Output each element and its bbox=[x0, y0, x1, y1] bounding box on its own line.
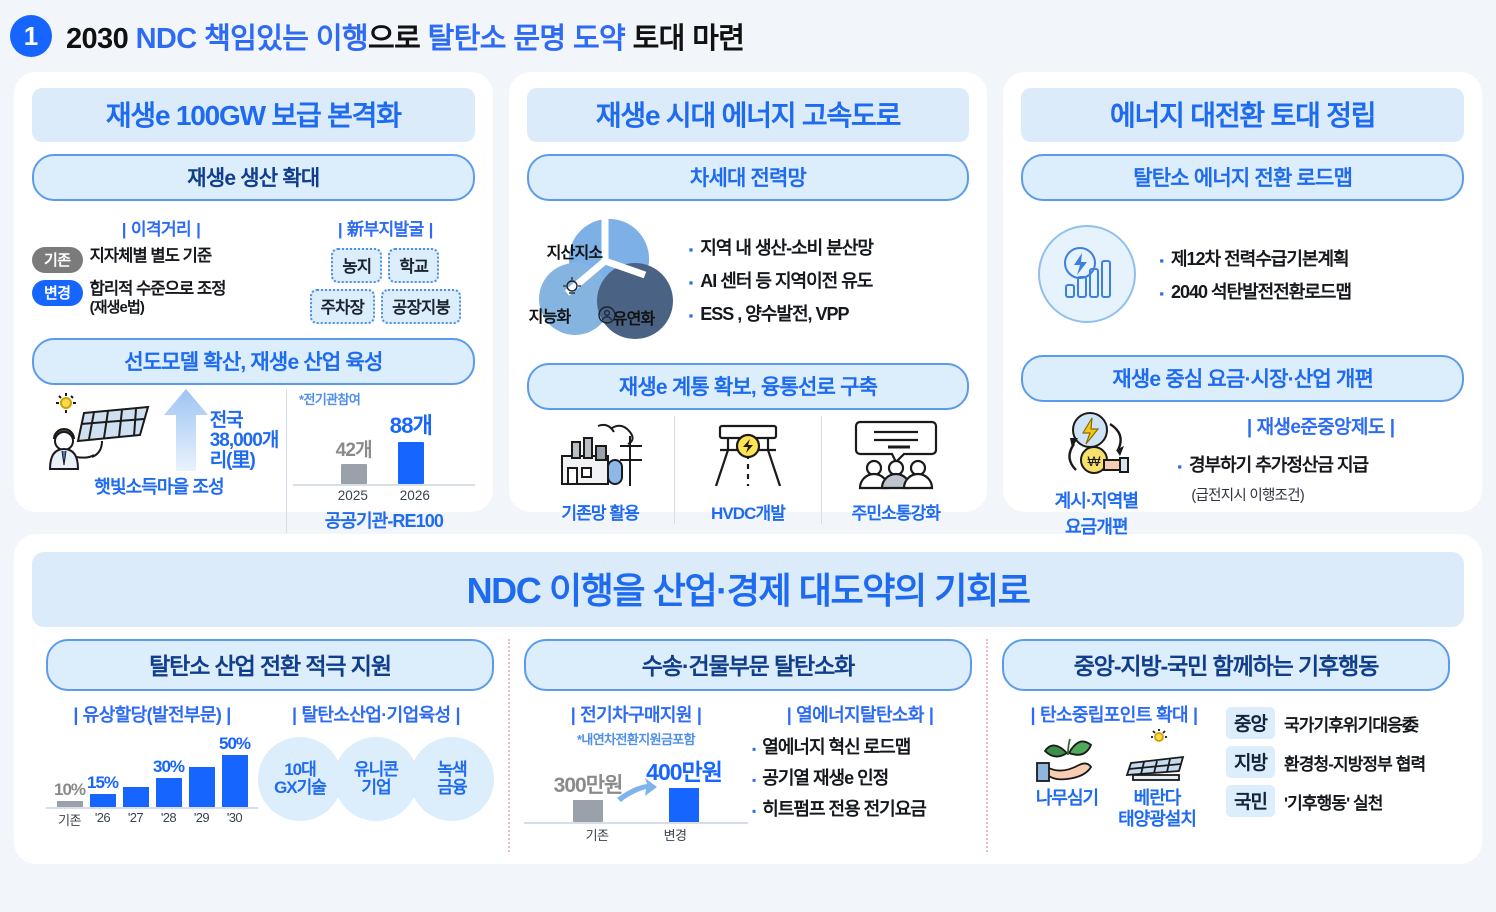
bottom-col-heading: 중앙-지방-국민 함께하는 기후행동 bbox=[1002, 639, 1450, 691]
heat-energy-bullets: ▪열에너지 혁신 로드맵 ▪공기열 재생e 인정 ▪히트펌프 전용 전기요금 bbox=[748, 733, 972, 821]
card3-bullets: ▪제12차 전력수급기본계획 ▪2040 석탄발전전환로드맵 bbox=[1159, 238, 1464, 311]
bullet-marker: ▪ bbox=[1177, 460, 1182, 473]
circle-line: 유니콘 bbox=[354, 761, 398, 779]
callout-line: 전국 bbox=[210, 411, 279, 431]
label-text: 열에너지탈탄소화 bbox=[796, 705, 924, 725]
x-tick: '30 bbox=[220, 810, 249, 829]
village-callout: 전국 38,000개 리(里) bbox=[210, 411, 279, 471]
card2-section1-body: 지산지소 지능화 유연화 bbox=[527, 215, 970, 345]
hand-sprout-icon bbox=[1031, 729, 1103, 783]
callout-line: 리(里) bbox=[210, 451, 279, 471]
paid-allocation-chart: 10% 15% . 3 bbox=[46, 733, 258, 807]
label-text: 전기차구매지원 bbox=[580, 705, 692, 725]
separation-distance-group: |이격거리| 기존 지자체별 별도 기준 변경 합리적 수준으로 조정 (재생e… bbox=[32, 215, 290, 324]
bottom-col-climate-action: 중앙-지방-국민 함께하는 기후행동 |탄소중립포인트 확대| bbox=[986, 639, 1464, 852]
industry-circles: 10대 GX기술 유니콘 기업 녹색 금융 bbox=[258, 737, 494, 821]
policy-text-sub: (재생e법) bbox=[90, 299, 144, 316]
venn-label-right: 유연화 bbox=[613, 305, 655, 329]
chart-bar-group: 15% bbox=[88, 733, 117, 807]
card1-section2-body: 전국 38,000개 리(里) 햇빛소득마을 조성 *전기관참여 42개 bbox=[32, 389, 475, 533]
up-arrow-icon bbox=[162, 387, 210, 471]
policy-text-changed: 합리적 수준으로 조정 (재생e법) bbox=[90, 280, 226, 317]
ev-subsidy-chart: 300만원 400만원 bbox=[524, 750, 748, 822]
new-site-label: |新부지발굴| bbox=[296, 215, 475, 240]
bullet-item: ▪지역 내 생산-소비 분산망 bbox=[689, 234, 970, 260]
chart-bar-group: 42개 bbox=[336, 408, 372, 484]
bar-26 bbox=[90, 794, 116, 807]
bullet-text: AI 센터 등 지역이전 유도 bbox=[700, 267, 872, 293]
badge-existing: 기존 bbox=[32, 247, 83, 273]
roadmap-icon-wrap bbox=[1021, 219, 1153, 329]
infographic-page: 1 2030 NDC 책임있는 이행으로 탈탄소 문명 도약 토대 마련 재생e… bbox=[0, 0, 1496, 912]
circle-line: GX기술 bbox=[274, 779, 326, 797]
title-segment: NDC 책임있는 이행 bbox=[136, 23, 368, 55]
chart-bar-group: 88개 bbox=[390, 408, 432, 484]
x-tick: 기존 bbox=[575, 825, 619, 844]
decarbon-industry-label: |탈탄소산업·기업육성| bbox=[258, 701, 494, 727]
governance-key: 지방 bbox=[1226, 746, 1275, 778]
venn-diagram: 지산지소 지능화 유연화 bbox=[527, 215, 685, 345]
bottom-col-transport: 수송·건물부문 탈탄소화 |전기차구매지원| *내연차전환지원금포함 300만원 bbox=[508, 639, 986, 852]
card3-section1-heading: 탈탄소 에너지 전환 로드맵 bbox=[1021, 154, 1464, 201]
action-label: 태양광설치 bbox=[1117, 810, 1197, 830]
policy-text-existing: 지자체별 별도 기준 bbox=[90, 247, 212, 265]
bottom-col-heading: 수송·건물부문 탈탄소화 bbox=[524, 639, 972, 691]
policy-text-main: 합리적 수준으로 조정 bbox=[90, 280, 226, 298]
bullet-item: ▪제12차 전력수급기본계획 bbox=[1159, 245, 1464, 271]
new-site-tags: 농지 학교 주차장 공장지붕 bbox=[296, 248, 475, 324]
bullet-marker: ▪ bbox=[1159, 254, 1164, 267]
x-tick: '28 bbox=[154, 810, 183, 829]
bar-value-label: 10% bbox=[54, 780, 85, 800]
circle-line: 금융 bbox=[437, 779, 466, 797]
heat-energy-group: |열에너지탈탄소화| ▪열에너지 혁신 로드맵 ▪공기열 재생e 인정 ▪히트펌… bbox=[748, 701, 972, 844]
governance-rows: 중앙 국가기후위기대응委 지방 환경청-지방정부 협력 국민 '기후행동' 실천 bbox=[1226, 707, 1450, 817]
bullet-item: ▪경부하기 추가정산금 지급 bbox=[1177, 451, 1464, 477]
tariff-exchange-icon: ₩ bbox=[1048, 408, 1144, 482]
bottom-panel: NDC 이행을 산업·경제 대도약의 기회로 탈탄소 산업 전환 적극 지원 |… bbox=[14, 534, 1482, 864]
bullet-marker: ▪ bbox=[752, 805, 756, 817]
bullet-item: ▪열에너지 혁신 로드맵 bbox=[752, 733, 972, 759]
tariff-caption-line: 계시·지역별 bbox=[1021, 487, 1171, 513]
governance-value: 국가기후위기대응委 bbox=[1284, 711, 1418, 736]
ev-subsidy-group: |전기차구매지원| *내연차전환지원금포함 300만원 bbox=[524, 701, 748, 844]
bar-2026 bbox=[398, 442, 424, 484]
top-cards-row: 재생e 100GW 보급 본격화 재생e 생산 확대 |이격거리| 기존 지자체… bbox=[0, 64, 1496, 512]
bullet-text: 히트펌프 전용 전기요금 bbox=[762, 795, 926, 821]
ev-subsidy-note: *내연차전환지원금포함 bbox=[524, 729, 748, 748]
venn-label-left: 지능화 bbox=[529, 303, 571, 327]
chart-bar-group: 10% bbox=[55, 733, 84, 807]
card-energy-highway: 재생e 시대 에너지 고속도로 차세대 전력망 지산지소 bbox=[509, 72, 988, 512]
bullet-text: 열에너지 혁신 로드맵 bbox=[762, 733, 910, 759]
action-tree-planting: 나무심기 bbox=[1031, 729, 1103, 830]
governance-row: 지방 환경청-지방정부 협력 bbox=[1226, 746, 1450, 778]
re100-note: *전기관참여 bbox=[293, 389, 475, 408]
bullet-text: ESS , 양수발전, VPP bbox=[700, 300, 848, 326]
chart-bar-group: 400만원 bbox=[657, 750, 711, 822]
bar-value-label: 42개 bbox=[336, 435, 372, 462]
x-tick: 기존 bbox=[55, 810, 84, 829]
badge-changed: 변경 bbox=[32, 280, 83, 306]
bullet-marker: ▪ bbox=[689, 276, 694, 289]
x-tick: '26 bbox=[88, 810, 117, 829]
carbon-point-icons: 나무심기 bbox=[1002, 729, 1226, 830]
card-title: 에너지 대전환 토대 정립 bbox=[1021, 88, 1464, 142]
governance-key: 중앙 bbox=[1226, 707, 1275, 739]
grid-item-label: 주민소통강화 bbox=[822, 499, 969, 524]
label-text: 재생e준중앙제도 bbox=[1257, 417, 1385, 438]
governance-value: '기후행동' 실천 bbox=[1284, 789, 1383, 814]
card3-section2-body: ₩ 계시·지역별 요금개편 |재생e준중앙제도| bbox=[1021, 408, 1464, 539]
industry-circle[interactable]: 유니콘 기업 bbox=[334, 737, 418, 821]
energy-chart-circle-icon bbox=[1032, 219, 1142, 329]
heat-energy-label: |열에너지탈탄소화| bbox=[748, 701, 972, 727]
balcony-solar-icon bbox=[1117, 729, 1197, 783]
bullet-text: 제12차 전력수급기본계획 bbox=[1171, 245, 1349, 271]
bullet-item: ▪공기열 재생e 인정 bbox=[752, 764, 972, 790]
action-label: 베란다 bbox=[1117, 789, 1197, 809]
bullet-marker: ▪ bbox=[689, 309, 694, 322]
section-number-badge: 1 bbox=[10, 15, 52, 57]
bar-2025 bbox=[341, 464, 367, 484]
bar-value-label: 400만원 bbox=[646, 753, 722, 787]
label-text: 탄소중립포인트 확대 bbox=[1040, 705, 1188, 725]
solar-panel-person-icon bbox=[40, 391, 160, 471]
re100-group: *전기관참여 42개 88개 2025 2026 bbox=[286, 389, 475, 533]
bottom-columns: 탈탄소 산업 전환 적극 지원 |유상할당(발전부문)| 10% bbox=[32, 639, 1464, 852]
bullet-text: 지역 내 생산-소비 분산망 bbox=[700, 234, 873, 260]
label-text: 유상할당(발전부문) bbox=[83, 705, 221, 725]
governance-row: 국민 '기후행동' 실천 bbox=[1226, 785, 1450, 817]
decarbon-industry-group: |탈탄소산업·기업육성| 10대 GX기술 유니콘 기업 bbox=[258, 701, 494, 829]
card2-section1-heading: 차세대 전력망 bbox=[527, 154, 970, 201]
card1-section2-heading: 선도모델 확산, 재생e 산업 육성 bbox=[32, 338, 475, 385]
card-title: 재생e 100GW 보급 본격화 bbox=[32, 88, 475, 142]
bullet-item: ▪AI 센터 등 지역이전 유도 bbox=[689, 267, 970, 293]
bottom-col3-body: |탄소중립포인트 확대| bbox=[1002, 701, 1450, 830]
bar-value-label: 50% bbox=[219, 734, 250, 754]
carbon-point-group: |탄소중립포인트 확대| bbox=[1002, 701, 1226, 830]
page-header: 1 2030 NDC 책임있는 이행으로 탈탄소 문명 도약 토대 마련 bbox=[0, 0, 1496, 64]
policy-row-existing: 기존 지자체별 별도 기준 bbox=[32, 247, 290, 273]
bottom-col1-body: |유상할당(발전부문)| 10% 15% bbox=[46, 701, 494, 829]
community-speech-icon bbox=[848, 416, 944, 492]
re100-chart: 42개 88개 bbox=[293, 408, 475, 484]
circle-line: 10대 bbox=[284, 761, 316, 779]
x-tick: 2026 bbox=[393, 488, 437, 503]
governance-value: 환경청-지방정부 협력 bbox=[1284, 750, 1425, 775]
card2-bullets: ▪지역 내 생산-소비 분산망 ▪AI 센터 등 지역이전 유도 ▪ESS , … bbox=[689, 227, 970, 333]
svg-text:₩: ₩ bbox=[1088, 453, 1102, 469]
separation-distance-label: |이격거리| bbox=[32, 215, 290, 240]
chart-bar-group: . bbox=[187, 733, 216, 807]
x-tick: '27 bbox=[121, 810, 150, 829]
card3-section1-body: ▪제12차 전력수급기본계획 ▪2040 석탄발전전환로드맵 bbox=[1021, 219, 1464, 329]
bar-28 bbox=[156, 778, 182, 807]
title-segment: 토대 마련 bbox=[633, 23, 745, 55]
title-segment: 탈탄소 문명 도약 bbox=[428, 23, 633, 55]
grid-item-existing-network: 기존망 활용 bbox=[527, 416, 674, 524]
page-title: 2030 NDC 책임있는 이행으로 탈탄소 문명 도약 토대 마련 bbox=[66, 15, 744, 57]
paid-allocation-group: |유상할당(발전부문)| 10% 15% bbox=[46, 701, 258, 829]
target-icon bbox=[597, 305, 617, 325]
callout-line: 38,000개 bbox=[210, 431, 279, 451]
governance-group: 중앙 국가기후위기대응委 지방 환경청-지방정부 협력 국민 '기후행동' 실천 bbox=[1226, 701, 1450, 830]
bulb-icon bbox=[561, 277, 583, 299]
circle-line: 녹색 bbox=[437, 761, 466, 779]
bar-base bbox=[57, 801, 83, 807]
bar-changed bbox=[669, 788, 699, 822]
bar-27 bbox=[123, 787, 149, 807]
chart-bar-group: 50% bbox=[220, 733, 249, 807]
chart-bar-group: 30% bbox=[154, 733, 183, 807]
x-tick: 변경 bbox=[653, 825, 697, 844]
grid-icons-row: 기존망 활용 bbox=[527, 416, 970, 524]
paid-allocation-label: |유상할당(발전부문)| bbox=[46, 701, 258, 727]
ev-subsidy-axis: 기존 변경 bbox=[524, 822, 748, 844]
action-label: 나무심기 bbox=[1031, 789, 1103, 809]
x-tick: 2025 bbox=[331, 488, 375, 503]
bar-30 bbox=[222, 755, 248, 807]
central-system-note: (급전지시 이행조건) bbox=[1191, 484, 1464, 505]
new-site-group: |新부지발굴| 농지 학교 주차장 공장지붕 bbox=[296, 215, 475, 324]
bar-existing bbox=[573, 800, 603, 822]
bar-value-label: 88개 bbox=[390, 408, 432, 440]
bottom-col2-body: |전기차구매지원| *내연차전환지원금포함 300만원 bbox=[524, 701, 972, 844]
paid-allocation-axis: 기존 '26 '27 '28 '29 '30 bbox=[46, 807, 258, 829]
bar-value-label: 30% bbox=[153, 757, 184, 777]
power-plant-icon bbox=[554, 416, 646, 492]
carbon-point-label: |탄소중립포인트 확대| bbox=[1002, 701, 1226, 727]
card1-section1-heading: 재생e 생산 확대 bbox=[32, 154, 475, 201]
title-segment: 2030 bbox=[66, 23, 136, 55]
bottom-col-industry: 탈탄소 산업 전환 적극 지원 |유상할당(발전부문)| 10% bbox=[32, 639, 508, 852]
bullet-text: 공기열 재생e 인정 bbox=[762, 764, 888, 790]
card3-section2-heading: 재생e 중심 요금·시장·산업 개편 bbox=[1021, 355, 1464, 402]
governance-row: 중앙 국가기후위기대응委 bbox=[1226, 707, 1450, 739]
grid-item-label: HVDC개발 bbox=[675, 499, 822, 524]
label-text: 新부지발굴 bbox=[347, 220, 424, 239]
venn-label-top: 지산지소 bbox=[547, 239, 603, 263]
bullet-marker: ▪ bbox=[752, 743, 756, 755]
ev-subsidy-label: |전기차구매지원| bbox=[524, 701, 748, 727]
bullet-item: ▪2040 석탄발전전환로드맵 bbox=[1159, 278, 1464, 304]
hvdc-tower-icon bbox=[706, 416, 790, 492]
re100-chart-axis: 2025 2026 bbox=[293, 484, 475, 503]
card-energy-transition: 에너지 대전환 토대 정립 탈탄소 에너지 전환 로드맵 ▪제12차 전 bbox=[1003, 72, 1482, 512]
x-tick: '29 bbox=[187, 810, 216, 829]
site-tag[interactable]: 농지 bbox=[331, 248, 382, 283]
card-renewable-100gw: 재생e 100GW 보급 본격화 재생e 생산 확대 |이격거리| 기존 지자체… bbox=[14, 72, 493, 512]
bullet-marker: ▪ bbox=[1159, 287, 1164, 300]
card1-section1-body: |이격거리| 기존 지자체별 별도 기준 변경 합리적 수준으로 조정 (재생e… bbox=[32, 215, 475, 324]
grid-item-label: 기존망 활용 bbox=[527, 499, 674, 524]
site-tag[interactable]: 공장지붕 bbox=[381, 289, 461, 324]
village-caption: 햇빛소득마을 조성 bbox=[32, 473, 286, 499]
industry-circle[interactable]: 녹색 금융 bbox=[410, 737, 494, 821]
bottom-panel-title: NDC 이행을 산업·경제 대도약의 기회로 bbox=[32, 552, 1464, 627]
grid-item-community: 주민소통강화 bbox=[821, 416, 969, 524]
card2-section2-heading: 재생e 계통 확보, 융통선로 구축 bbox=[527, 363, 970, 410]
bullet-text: 2040 석탄발전전환로드맵 bbox=[1171, 278, 1351, 304]
policy-row-changed: 변경 합리적 수준으로 조정 (재생e법) bbox=[32, 280, 290, 317]
central-system-label: |재생e준중앙제도| bbox=[1177, 412, 1464, 439]
bullet-marker: ▪ bbox=[752, 774, 756, 786]
bottom-col-heading: 탈탄소 산업 전환 적극 지원 bbox=[46, 639, 494, 691]
grid-item-hvdc: HVDC개발 bbox=[674, 416, 822, 524]
central-system-group: |재생e준중앙제도| ▪경부하기 추가정산금 지급 (급전지시 이행조건) bbox=[1177, 408, 1464, 505]
bullet-marker: ▪ bbox=[689, 243, 694, 256]
chart-bar-group: . bbox=[121, 733, 150, 807]
re100-caption: 공공기관-RE100 bbox=[293, 507, 475, 533]
bar-29 bbox=[189, 767, 215, 807]
bullet-item: ▪히트펌프 전용 전기요금 bbox=[752, 795, 972, 821]
site-tag[interactable]: 주차장 bbox=[310, 289, 375, 324]
governance-key: 국민 bbox=[1226, 785, 1275, 817]
title-segment: 으로 bbox=[368, 23, 428, 55]
action-balcony-solar: 베란다 태양광설치 bbox=[1117, 729, 1197, 830]
bullet-item: ▪ESS , 양수발전, VPP bbox=[689, 300, 970, 326]
label-text: 탈탄소산업·기업육성 bbox=[301, 705, 450, 725]
site-tag[interactable]: 학교 bbox=[388, 248, 439, 283]
chart-bar-group: 300만원 bbox=[561, 750, 615, 822]
tariff-caption-line: 요금개편 bbox=[1021, 513, 1171, 539]
tariff-group: ₩ 계시·지역별 요금개편 bbox=[1021, 408, 1171, 539]
industry-circle[interactable]: 10대 GX기술 bbox=[258, 737, 342, 821]
circle-line: 기업 bbox=[361, 779, 390, 797]
sunlight-village-group: 전국 38,000개 리(里) 햇빛소득마을 조성 bbox=[32, 389, 286, 499]
label-text: 이격거리 bbox=[131, 220, 191, 239]
bullet-text: 경부하기 추가정산금 지급 bbox=[1189, 451, 1368, 477]
card-title: 재생e 시대 에너지 고속도로 bbox=[527, 88, 970, 142]
bar-value-label: 15% bbox=[87, 773, 118, 793]
